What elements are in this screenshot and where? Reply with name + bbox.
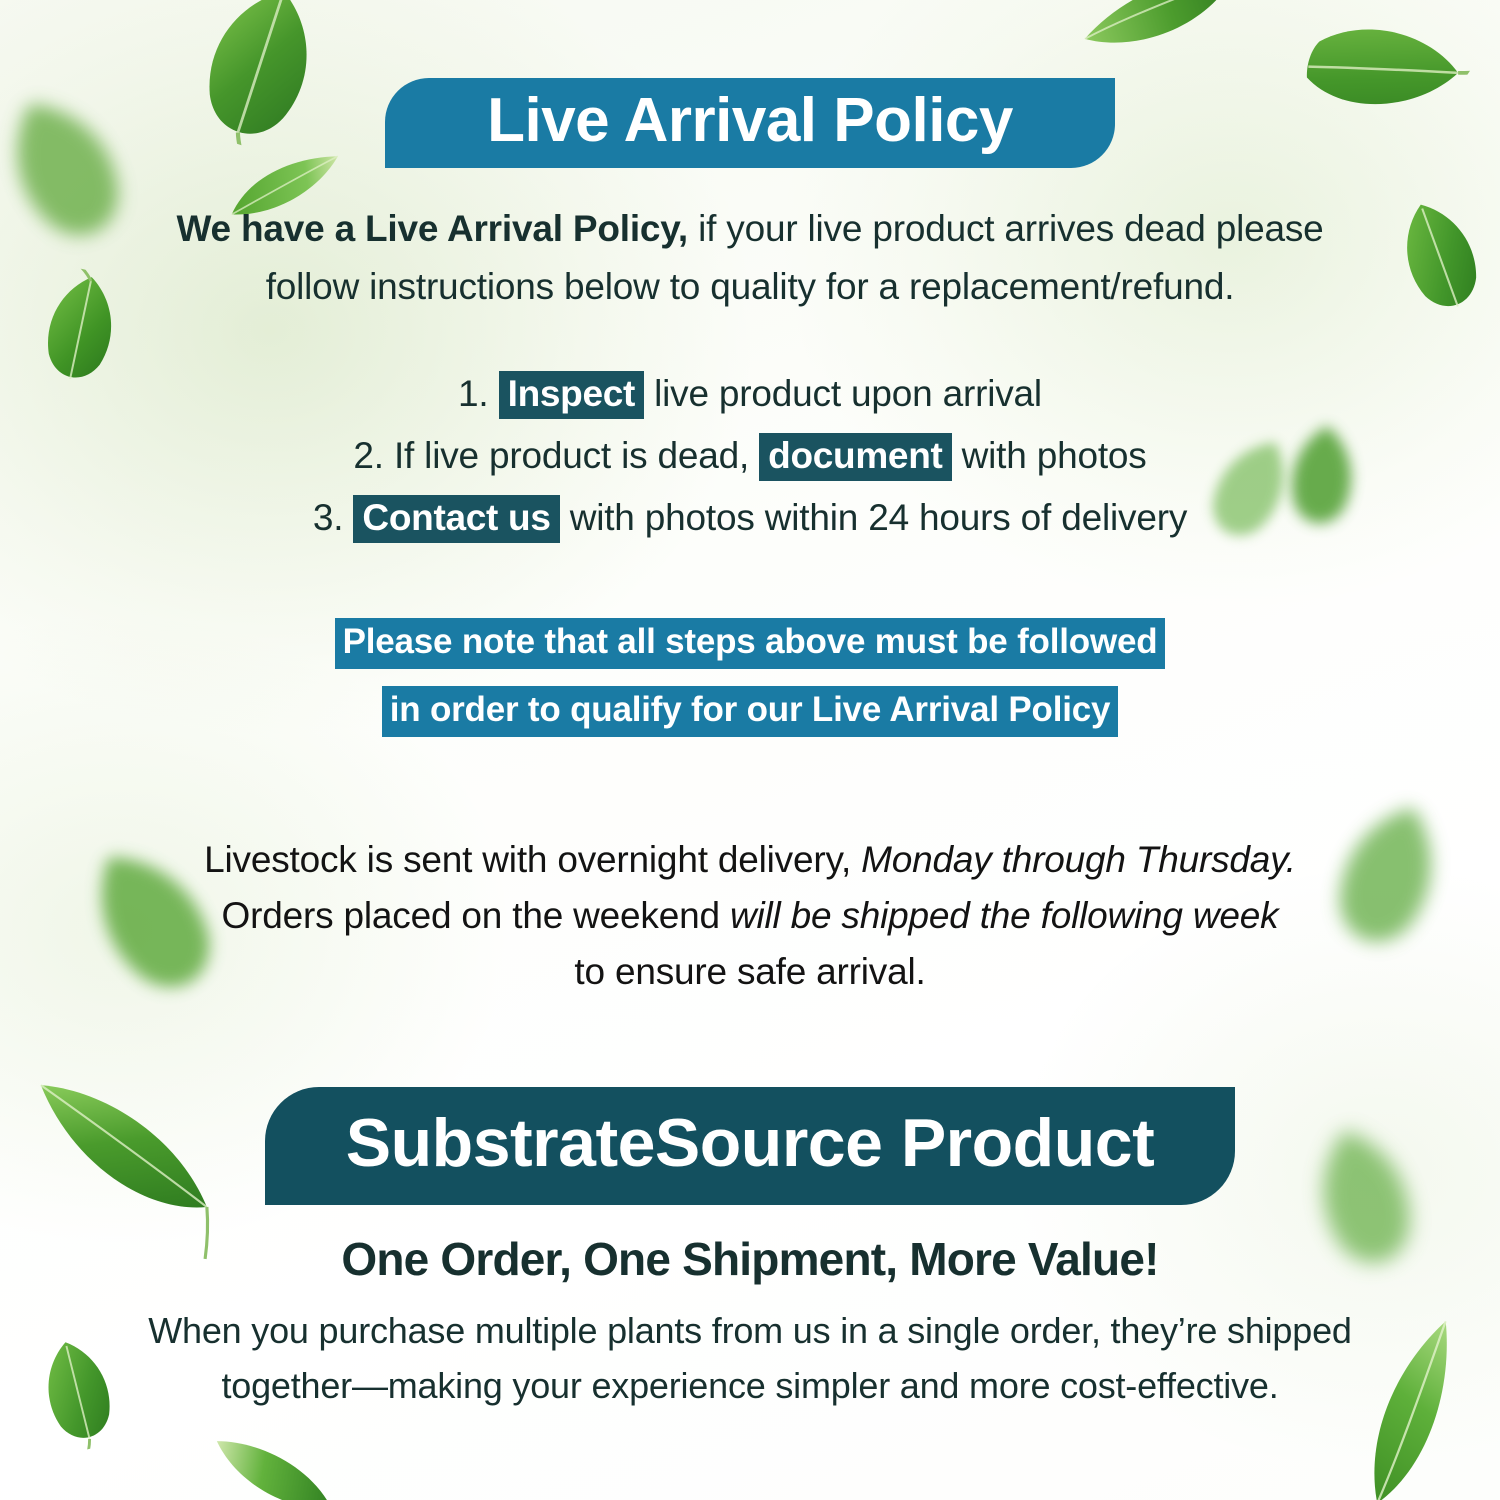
policy-intro-paragraph: We have a Live Arrival Policy, if your l…	[150, 200, 1350, 316]
livestock-line-3: to ensure safe arrival.	[150, 944, 1350, 1000]
step-highlight-contact-us: Contact us	[353, 495, 559, 543]
step-post-text: with photos	[952, 435, 1147, 476]
note-line-1: Please note that all steps above must be…	[335, 618, 1166, 669]
step-number: 1.	[458, 373, 488, 414]
livestock-shipping-paragraph: Livestock is sent with overnight deliver…	[150, 832, 1350, 1000]
product-body-line-1: When you purchase multiple plants from u…	[140, 1303, 1360, 1358]
list-item: 1. Inspect live product upon arrival	[150, 363, 1350, 425]
list-item: 3. Contact us with photos within 24 hour…	[150, 487, 1350, 549]
policy-note-block: Please note that all steps above must be…	[150, 608, 1350, 744]
livestock-line-2-plain: Orders placed on the weekend	[222, 895, 730, 936]
step-pre-text: If live product is dead,	[384, 435, 759, 476]
livestock-line-1: Livestock is sent with overnight deliver…	[150, 832, 1350, 888]
list-item: 2. If live product is dead, document wit…	[150, 425, 1350, 487]
step-number: 2.	[353, 435, 383, 476]
note-line-2: in order to qualify for our Live Arrival…	[382, 686, 1119, 737]
livestock-line-2-italic: will be shipped the following week	[730, 895, 1279, 936]
step-highlight-document: document	[759, 433, 951, 481]
substratesource-product-title: SubstrateSource Product	[346, 1104, 1154, 1182]
content-layer: Live Arrival Policy We have a Live Arriv…	[0, 0, 1500, 1500]
step-highlight-inspect: Inspect	[499, 371, 644, 419]
note-line: Please note that all steps above must be…	[150, 608, 1350, 676]
livestock-line-1-plain: Livestock is sent with overnight deliver…	[204, 839, 861, 880]
livestock-line-1-italic: Monday through Thursday.	[861, 839, 1296, 880]
product-subheading: One Order, One Shipment, More Value!	[150, 1232, 1350, 1286]
substratesource-product-banner: SubstrateSource Product	[265, 1087, 1235, 1205]
livestock-line-2: Orders placed on the weekend will be shi…	[150, 888, 1350, 944]
step-post-text: live product upon arrival	[644, 373, 1042, 414]
step-number: 3.	[313, 497, 343, 538]
note-line: in order to qualify for our Live Arrival…	[150, 676, 1350, 744]
product-body-paragraph: When you purchase multiple plants from u…	[140, 1303, 1360, 1413]
live-arrival-policy-banner: Live Arrival Policy	[385, 78, 1115, 168]
step-pre-text	[343, 497, 353, 538]
step-post-text: with photos within 24 hours of delivery	[560, 497, 1188, 538]
live-arrival-policy-infographic: Live Arrival Policy We have a Live Arriv…	[0, 0, 1500, 1500]
live-arrival-policy-title: Live Arrival Policy	[487, 85, 1013, 156]
policy-intro-bold: We have a Live Arrival Policy,	[176, 208, 688, 249]
product-body-line-2: together—making your experience simpler …	[140, 1358, 1360, 1413]
policy-steps-list: 1. Inspect live product upon arrival 2. …	[150, 363, 1350, 549]
